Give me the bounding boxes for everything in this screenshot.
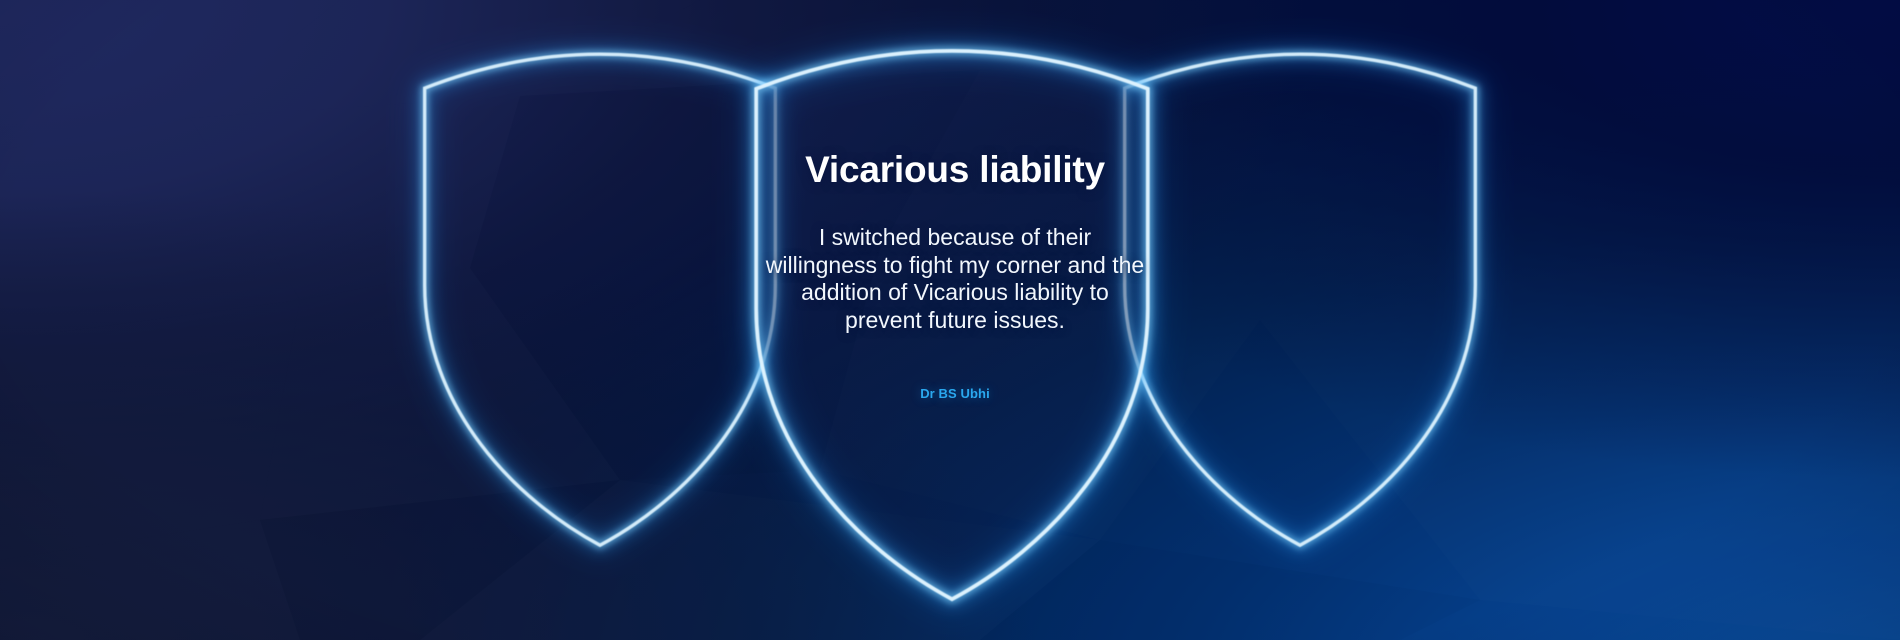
background-vignette: [0, 0, 1900, 640]
testimonial-banner: Vicarious liability I switched because o…: [0, 0, 1900, 640]
